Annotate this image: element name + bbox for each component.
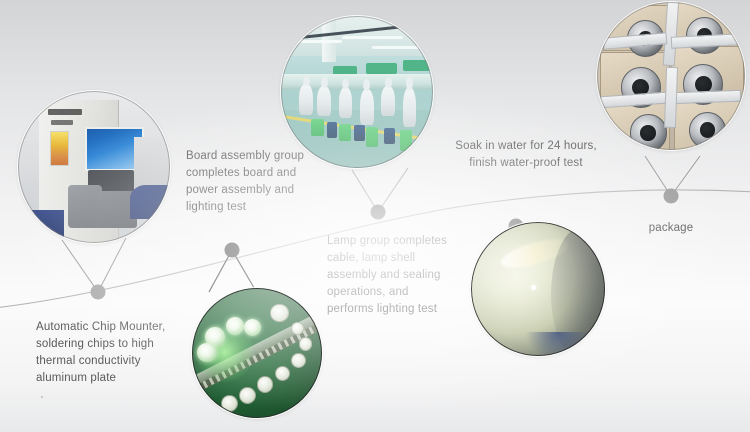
timeline-node-package[interactable]: [664, 189, 679, 204]
caption-chip-mounter: Automatic Chip Mounter, soldering chips …: [36, 319, 196, 387]
caption-lamp-group: Lamp group completes cable, lamp shell a…: [327, 233, 457, 318]
photo-automatic-chip-mounter[interactable]: [18, 91, 170, 243]
timeline-node-chip-mounter[interactable]: [91, 285, 106, 300]
photo-pcb-with-leds[interactable]: [192, 288, 322, 418]
caption-water-proof-test: Soak in water for 24 hours, finish water…: [443, 138, 609, 172]
timeline-node-board-assembly[interactable]: [371, 205, 386, 220]
chip-mounter-image: [18, 91, 170, 243]
photo-packed-boxes[interactable]: [597, 2, 745, 150]
pcb-leds-image: [192, 288, 322, 418]
caption-package: package: [625, 220, 717, 237]
packed-boxes-image: [597, 2, 745, 150]
caption-board-assembly: Board assembly group completes board and…: [186, 148, 321, 216]
photo-factory-assembly-line[interactable]: [281, 16, 433, 168]
lit-lamp-image: [471, 222, 605, 356]
timeline-node-lamp-group[interactable]: [225, 243, 240, 258]
factory-line-image: [281, 16, 433, 168]
process-flow-infographic: Board assembly group completes board and…: [0, 0, 750, 432]
photo-lit-lamp-lens[interactable]: [471, 222, 605, 356]
speck-artifact: [41, 396, 43, 398]
connector-chip-mounter: [62, 238, 126, 292]
